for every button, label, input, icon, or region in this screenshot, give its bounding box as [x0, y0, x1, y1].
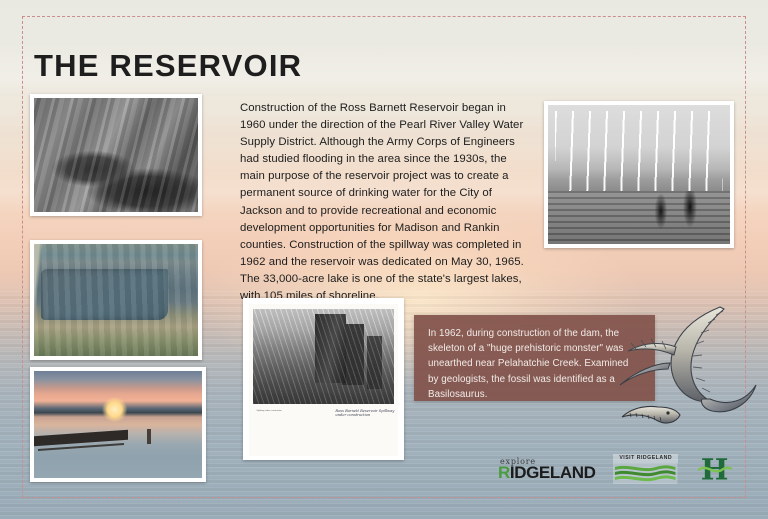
spillway-card-caption: Spillway under construction: [256, 410, 328, 412]
logo-bar: explore RIDGELAND VISIT RIDGELAND H: [498, 450, 733, 488]
fossil-callout-text: In 1962, during construction of the dam,…: [428, 326, 641, 402]
logo-visit-ridgeland-text: VISIT RIDGELAND: [613, 454, 677, 463]
h-letter-icon: H: [696, 453, 733, 484]
photo-sunset-pier-image: [34, 371, 202, 478]
photo-aerial-spillway-color-image: [34, 244, 198, 356]
wave-lines-icon: [613, 463, 677, 484]
logo-h-monogram[interactable]: H: [696, 453, 733, 485]
photo-sailboats-dock: [544, 101, 734, 248]
photo-aerial-blackwhite-image: [34, 98, 198, 212]
interpretive-panel: THE RESERVOIR Construction of the Ross B…: [0, 0, 768, 519]
logo-explore-ridgeland[interactable]: explore RIDGELAND: [498, 458, 595, 481]
photo-sailboats-dock-image: [548, 105, 730, 244]
logo-accent-letter: R: [498, 463, 510, 482]
photo-sunset-pier: [30, 367, 206, 482]
page-title: THE RESERVOIR: [34, 48, 302, 84]
body-paragraph: Construction of the Ross Barnett Reservo…: [240, 100, 533, 305]
spillway-card-handwriting: Ross Barnett Reservoir Spillway under co…: [335, 409, 395, 418]
fossil-callout-box: In 1962, during construction of the dam,…: [414, 315, 655, 401]
logo-visit-ridgeland[interactable]: VISIT RIDGELAND: [613, 454, 677, 484]
photo-aerial-spillway-color: [30, 240, 202, 360]
spillway-card-inner: Spillway under construction Ross Barnett…: [249, 304, 398, 456]
photo-spillway-construction-card: Spillway under construction Ross Barnett…: [243, 298, 404, 460]
logo-ridgeland-word: RIDGELAND: [498, 464, 595, 481]
photo-spillway-construction-image: [253, 309, 393, 405]
photo-aerial-blackwhite: [30, 94, 202, 216]
